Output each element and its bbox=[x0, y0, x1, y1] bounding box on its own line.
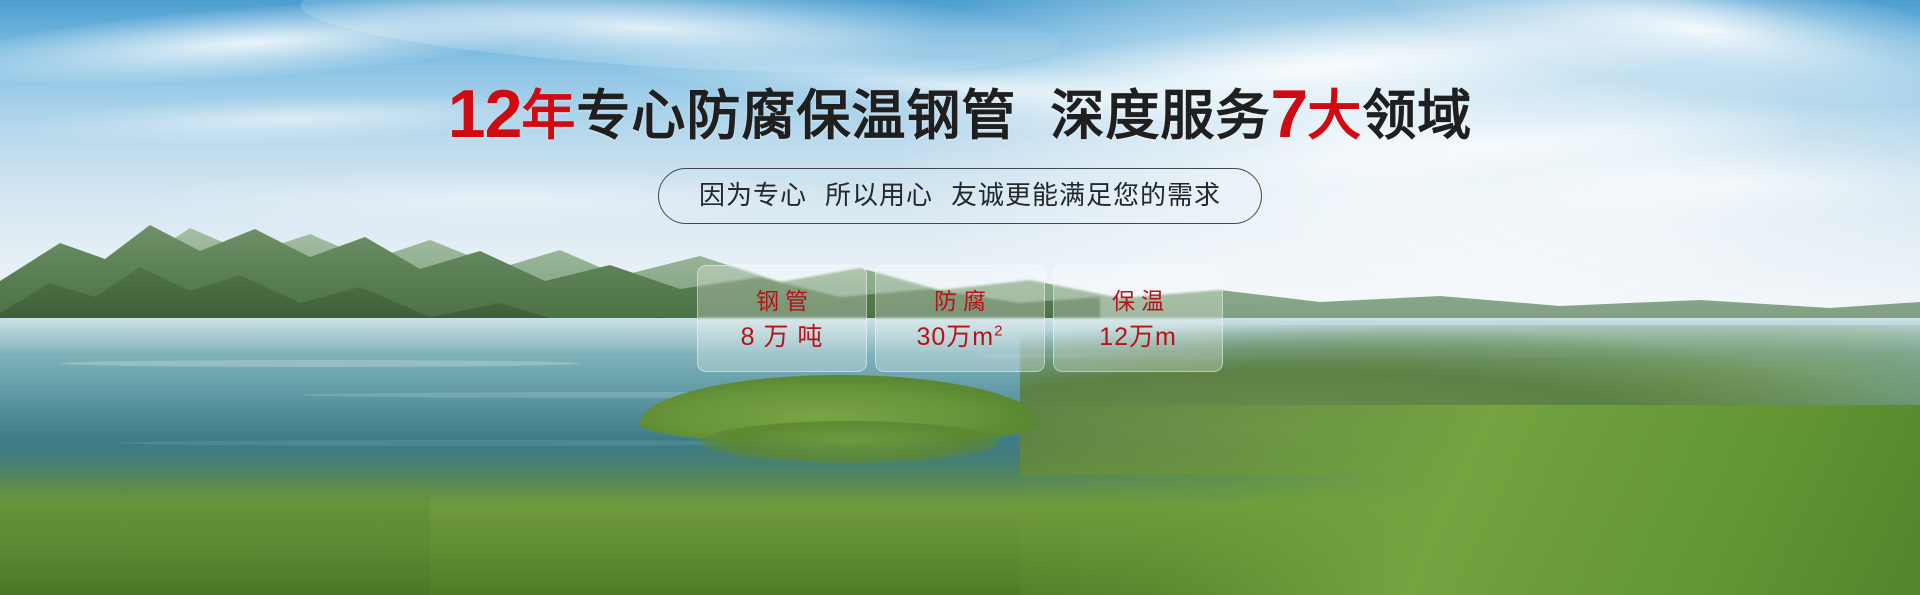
headline-fields-number: 7 bbox=[1270, 76, 1307, 152]
headline-years-number: 12 bbox=[448, 76, 522, 152]
headline-service-text: 深度服务 bbox=[1050, 86, 1270, 146]
stat-cards: 钢管 8 万 吨 防腐 30万m2 保温 12万m bbox=[0, 265, 1920, 372]
stat-label: 保温 bbox=[1106, 286, 1170, 316]
stat-card-insulation: 保温 12万m bbox=[1053, 265, 1223, 372]
banner-content: 12年专心防腐保温钢管深度服务7大领域 因为专心所以用心友诚更能满足您的需求 钢… bbox=[0, 0, 1920, 595]
stat-value: 12万m bbox=[1099, 322, 1177, 352]
subtitle-segment-2: 所以用心 bbox=[825, 180, 933, 210]
stat-card-anticorrosion: 防腐 30万m2 bbox=[875, 265, 1045, 372]
stat-label: 防腐 bbox=[928, 286, 992, 316]
subtitle-segment-3: 友诚更能满足您的需求 bbox=[951, 180, 1221, 210]
stat-value-text: 30万m bbox=[917, 323, 995, 351]
headline-fields-unit: 大 bbox=[1307, 86, 1362, 146]
stat-value: 8 万 吨 bbox=[741, 322, 824, 352]
headline-main-text: 专心防腐保温钢管 bbox=[576, 86, 1016, 146]
headline: 12年专心防腐保温钢管深度服务7大领域 bbox=[0, 80, 1920, 150]
stat-value-superscript: 2 bbox=[994, 322, 1003, 339]
stat-label: 钢管 bbox=[750, 286, 814, 316]
headline-fields-text: 领域 bbox=[1362, 86, 1472, 146]
subtitle-segment-1: 因为专心 bbox=[699, 180, 807, 210]
stat-card-steel-pipe: 钢管 8 万 吨 bbox=[697, 265, 867, 372]
hero-banner: 12年专心防腐保温钢管深度服务7大领域 因为专心所以用心友诚更能满足您的需求 钢… bbox=[0, 0, 1920, 595]
subtitle-pill: 因为专心所以用心友诚更能满足您的需求 bbox=[658, 168, 1262, 224]
headline-years-unit: 年 bbox=[521, 86, 576, 146]
stat-value: 30万m2 bbox=[917, 322, 1004, 352]
stat-value-text: 8 万 吨 bbox=[741, 323, 824, 351]
subtitle-container: 因为专心所以用心友诚更能满足您的需求 bbox=[0, 168, 1920, 224]
stat-value-text: 12万m bbox=[1099, 323, 1177, 351]
